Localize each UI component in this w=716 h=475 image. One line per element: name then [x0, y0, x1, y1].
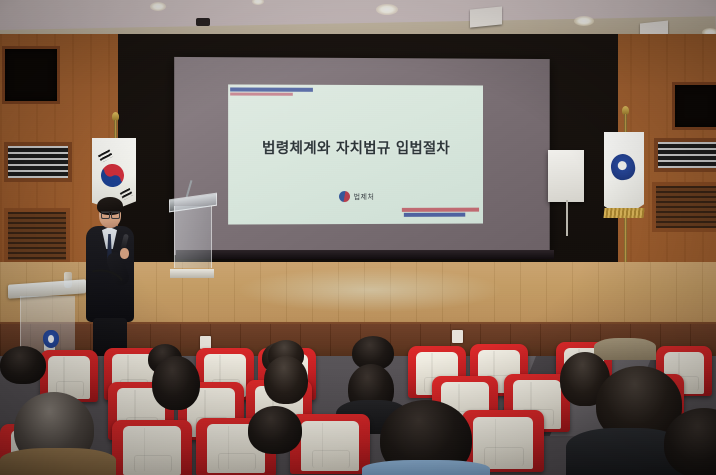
auditorium-seat [112, 420, 192, 475]
slide-accent-bar-red-top [230, 93, 293, 96]
slide-accent-bar-blue-top [230, 87, 313, 91]
lecture-hall-photo: 법령체계와 자치법규 입법절차 법제처 [0, 0, 716, 475]
slide-title: 법령체계와 자치법규 입법절차 [228, 137, 483, 158]
screen-bottom-bar [176, 250, 554, 259]
ceiling-speaker-icon [470, 6, 502, 27]
air-vent-icon [4, 208, 70, 264]
air-vent-icon [4, 142, 72, 182]
acrylic-lectern [172, 196, 212, 278]
seat-cushion [473, 417, 532, 469]
local-government-flag [604, 132, 644, 218]
flag-fringe [603, 208, 644, 218]
taegeuk-icon [97, 160, 128, 191]
taegeuk-icon [339, 191, 350, 202]
presentation-slide: 법령체계와 자치법규 입법절차 법제처 [228, 84, 483, 224]
audience-head [264, 356, 308, 404]
downlight-icon [376, 4, 398, 15]
audience-shoulder [594, 338, 656, 360]
trigram-icon [98, 149, 113, 162]
projection-screen: 법령체계와 자치법규 입법절차 법제처 [174, 57, 550, 255]
downlight-icon [574, 16, 594, 26]
county-emblem-icon [609, 152, 637, 182]
ceiling-mount-icon [196, 18, 210, 26]
glasses-icon [101, 211, 120, 217]
seat-cushion [301, 421, 359, 471]
audience-head [0, 346, 46, 384]
air-vent-icon [654, 138, 716, 172]
audience-shoulder [362, 460, 490, 475]
county-emblem-icon [43, 330, 59, 348]
wall-panel [672, 82, 716, 130]
presenter-hand [120, 248, 129, 259]
seat-cushion [123, 426, 181, 475]
lectern-body [174, 206, 212, 268]
whiteboard-leg [566, 200, 568, 236]
air-vent-icon [652, 182, 716, 232]
wall-panel [2, 46, 60, 104]
audience-head [248, 406, 302, 454]
downlight-icon [150, 2, 166, 11]
slide-accent-bar-red-bottom [402, 208, 479, 212]
slide-logo-text: 법제처 [354, 191, 375, 201]
stage-floor-reflection [240, 268, 500, 312]
audience-head [152, 356, 200, 410]
auditorium-seat [290, 414, 370, 474]
power-outlet-icon [452, 330, 463, 343]
audience-shoulder [0, 448, 116, 475]
slide-logo: 법제처 [228, 191, 483, 203]
lectern-base [170, 269, 214, 278]
whiteboard [548, 150, 584, 202]
slide-accent-bar-blue-bottom [404, 213, 465, 217]
